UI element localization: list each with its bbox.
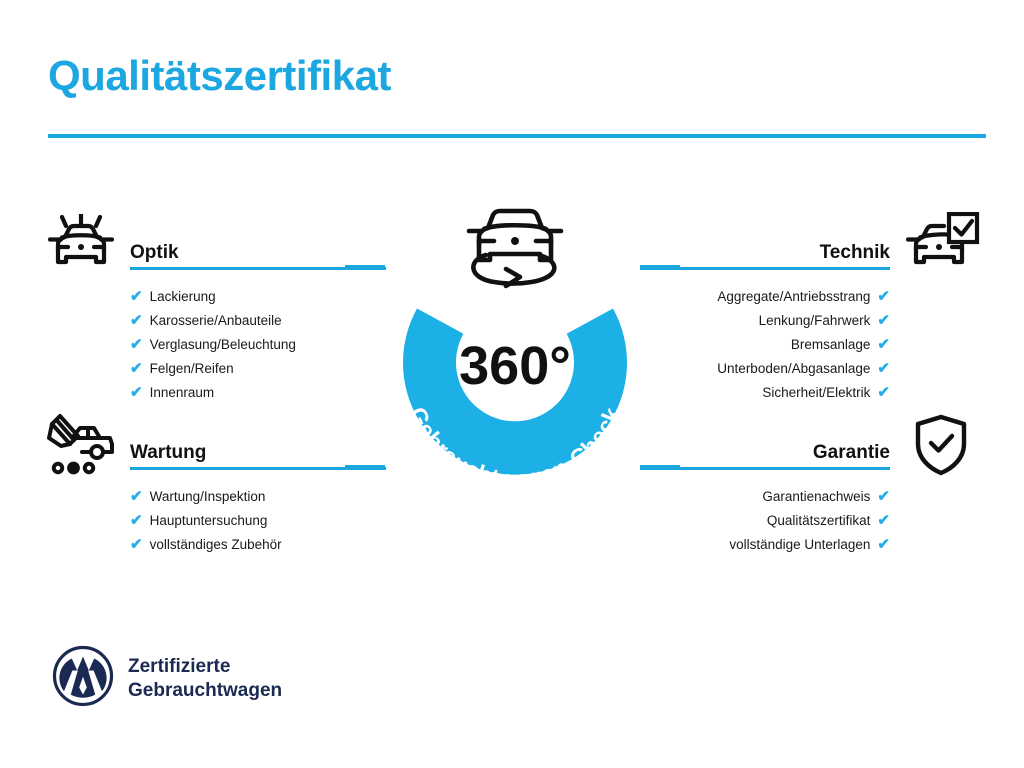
badge-center-text: 360°	[459, 336, 571, 396]
list-item-label: Bremsanlage	[791, 337, 871, 352]
section-header-technik: Technik	[640, 228, 890, 270]
list-item-label: Lenkung/Fahrwerk	[759, 313, 871, 328]
checklist-technik: ✔ Aggregate/Antriebsstrang ✔ Lenkung/Fah…	[640, 284, 890, 404]
list-item-label: Karosserie/Anbauteile	[150, 313, 282, 328]
check-icon: ✔	[130, 511, 143, 529]
section-header-garantie: Garantie	[640, 428, 890, 470]
car-front-shine-icon	[46, 214, 116, 281]
list-item: ✔ Sicherheit/Elektrik	[640, 380, 890, 404]
list-item: ✔ Lackierung	[130, 284, 386, 308]
list-item-label: Wartung/Inspektion	[150, 489, 266, 504]
list-item: ✔ Karosserie/Anbauteile	[130, 308, 386, 332]
list-item: ✔ Verglasung/Beleuchtung	[130, 332, 386, 356]
certificate-page: Qualitätszertifikat	[0, 0, 1024, 768]
list-item-label: Lackierung	[150, 289, 216, 304]
check-icon: ✔	[130, 335, 143, 353]
section-title-optik: Optik	[130, 242, 179, 264]
section-title-technik: Technik	[820, 242, 890, 264]
list-item: ✔ Hauptuntersuchung	[130, 508, 386, 532]
section-title-wartung: Wartung	[130, 442, 206, 464]
list-item: ✔ Wartung/Inspektion	[130, 484, 386, 508]
check-icon: ✔	[877, 287, 890, 305]
brand-text: Zertifizierte Gebrauchtwagen	[128, 655, 282, 701]
section-title-garantie: Garantie	[813, 442, 890, 464]
footer-branding: Zertifizierte Gebrauchtwagen	[52, 645, 282, 712]
section-divider-technik	[640, 267, 890, 270]
list-item-label: vollständiges Zubehör	[150, 537, 282, 552]
list-item: ✔ Lenkung/Fahrwerk	[640, 308, 890, 332]
checklist-garantie: ✔ Garantienachweis ✔ Qualitätszertifikat…	[640, 484, 890, 556]
brand-line-1: Zertifizierte	[128, 655, 282, 678]
pencil-car-service-icon	[44, 412, 118, 483]
list-item: ✔ Qualitätszertifikat	[640, 508, 890, 532]
360-check-badge: 360° Gebrauchtwagen-Check	[370, 190, 660, 510]
check-icon: ✔	[130, 535, 143, 553]
section-wartung: Wartung ✔ Wartung/Inspektion ✔ Hauptunte…	[130, 428, 386, 556]
list-item-label: Garantienachweis	[762, 489, 870, 504]
list-item: ✔ vollständige Unterlagen	[640, 532, 890, 556]
list-item: ✔ Unterboden/Abgasanlage	[640, 356, 890, 380]
check-icon: ✔	[130, 359, 143, 377]
car-rotate-360-icon	[469, 211, 561, 286]
list-item: ✔ Aggregate/Antriebsstrang	[640, 284, 890, 308]
check-icon: ✔	[877, 511, 890, 529]
list-item: ✔ Garantienachweis	[640, 484, 890, 508]
check-icon: ✔	[877, 487, 890, 505]
list-item-label: Aggregate/Antriebsstrang	[717, 289, 870, 304]
check-icon: ✔	[877, 535, 890, 553]
page-title: Qualitätszertifikat	[48, 52, 391, 100]
check-icon: ✔	[877, 311, 890, 329]
section-divider-garantie	[640, 467, 890, 470]
section-garantie: Garantie ✔ Garantienachweis ✔ Qualitätsz…	[640, 428, 890, 556]
check-icon: ✔	[130, 487, 143, 505]
check-icon: ✔	[877, 383, 890, 401]
section-divider-optik	[130, 267, 386, 270]
check-icon: ✔	[877, 359, 890, 377]
section-technik: Technik ✔ Aggregate/Antriebsstrang ✔ Len…	[640, 228, 890, 404]
list-item-label: Sicherheit/Elektrik	[762, 385, 870, 400]
list-item: ✔ Bremsanlage	[640, 332, 890, 356]
section-optik: Optik ✔ Lackierung ✔ Karosserie/Anbautei…	[130, 228, 386, 404]
checklist-wartung: ✔ Wartung/Inspektion ✔ Hauptuntersuchung…	[130, 484, 386, 556]
checklist-optik: ✔ Lackierung ✔ Karosserie/Anbauteile ✔ V…	[130, 284, 386, 404]
list-item: ✔ vollständiges Zubehör	[130, 532, 386, 556]
header-divider	[48, 134, 986, 138]
list-item-label: Innenraum	[150, 385, 215, 400]
car-front-checkbox-icon	[906, 212, 980, 279]
list-item: ✔ Innenraum	[130, 380, 386, 404]
list-item-label: vollständige Unterlagen	[729, 537, 870, 552]
section-header-optik: Optik	[130, 228, 386, 270]
list-item-label: Hauptuntersuchung	[150, 513, 268, 528]
list-item-label: Qualitätszertifikat	[767, 513, 871, 528]
shield-check-icon	[912, 414, 970, 481]
list-item: ✔ Felgen/Reifen	[130, 356, 386, 380]
check-icon: ✔	[130, 311, 143, 329]
list-item-label: Felgen/Reifen	[150, 361, 234, 376]
section-header-wartung: Wartung	[130, 428, 386, 470]
check-icon: ✔	[877, 335, 890, 353]
check-icon: ✔	[130, 383, 143, 401]
volkswagen-logo	[52, 645, 114, 712]
section-divider-wartung	[130, 467, 386, 470]
check-icon: ✔	[130, 287, 143, 305]
list-item-label: Unterboden/Abgasanlage	[717, 361, 870, 376]
list-item-label: Verglasung/Beleuchtung	[150, 337, 296, 352]
brand-line-2: Gebrauchtwagen	[128, 679, 282, 702]
